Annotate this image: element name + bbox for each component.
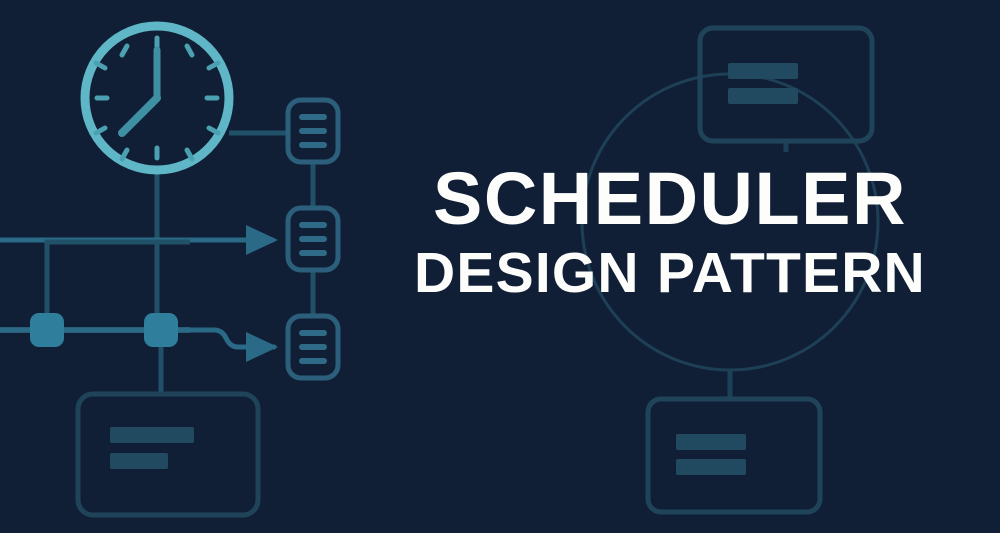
task-card-3-bar-2 bbox=[299, 344, 327, 350]
clock-hour-hand bbox=[122, 98, 157, 133]
detail-card-bottom-left-bar-1 bbox=[110, 427, 194, 443]
detail-card-bottom-left-bar-2 bbox=[110, 453, 168, 469]
detail-card-bottom-right-outline bbox=[648, 399, 820, 512]
detail-card-bottom-left[interactable] bbox=[78, 394, 258, 515]
task-card-1-bar-2 bbox=[299, 128, 327, 134]
node-square-left[interactable] bbox=[30, 313, 64, 347]
task-card-1-bar-1 bbox=[299, 114, 327, 120]
detail-card-bottom-right[interactable] bbox=[648, 399, 820, 512]
detail-card-top-right-bar-2 bbox=[728, 88, 798, 104]
task-card-2[interactable] bbox=[288, 208, 338, 270]
node-square-right[interactable] bbox=[144, 313, 178, 347]
task-card-2-bar-1 bbox=[299, 222, 327, 228]
detail-card-top-right-bar-1 bbox=[728, 63, 798, 79]
poster-canvas: SCHEDULER DESIGN PATTERN bbox=[0, 0, 1000, 533]
task-card-3-bar-3 bbox=[299, 358, 327, 364]
task-card-1-bar-3 bbox=[299, 142, 327, 148]
outline-circle bbox=[582, 74, 878, 370]
clock-icon[interactable] bbox=[85, 26, 229, 170]
task-card-3[interactable] bbox=[288, 316, 338, 378]
detail-card-bottom-right-bar-1 bbox=[676, 434, 746, 450]
detail-card-bottom-right-bar-2 bbox=[676, 459, 746, 475]
detail-card-bottom-left-outline bbox=[78, 394, 258, 515]
task-card-1[interactable] bbox=[288, 100, 338, 162]
background-illustration bbox=[0, 0, 1000, 533]
task-card-2-bar-2 bbox=[299, 236, 327, 242]
task-card-2-bar-3 bbox=[299, 250, 327, 256]
task-card-3-bar-1 bbox=[299, 330, 327, 336]
